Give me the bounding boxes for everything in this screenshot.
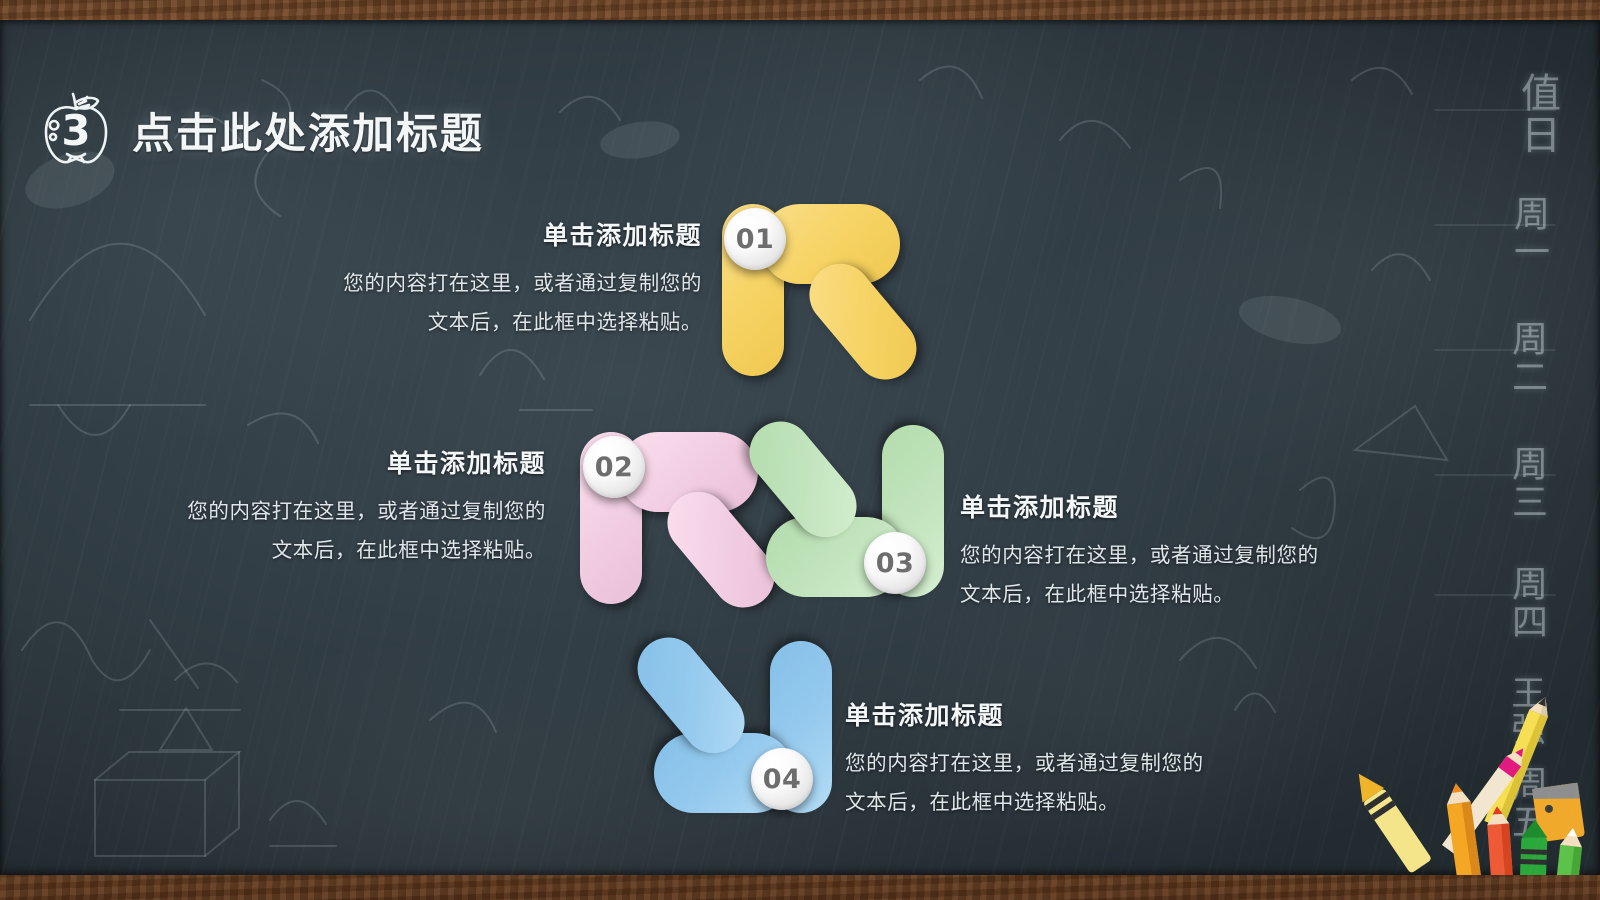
chalk-duty-name: 王强	[1501, 675, 1550, 747]
content-body-03-line2: 文本后，在此框中选择粘贴。	[960, 575, 1380, 614]
chalk-day-5: 周五	[1500, 765, 1552, 841]
chalk-duty-title: 值日	[1508, 72, 1566, 156]
content-body-02-line1: 您的内容打在这里，或者通过复制您的	[98, 492, 546, 531]
chalk-day-4: 周四	[1500, 565, 1552, 641]
pencil-red	[1486, 805, 1517, 875]
content-block-02[interactable]: 单击添加标题 您的内容打在这里，或者通过复制您的 文本后，在此框中选择粘贴。	[98, 444, 546, 571]
slide-title-row: 3 点击此处添加标题	[40, 92, 484, 168]
content-heading-04: 单击添加标题	[845, 696, 1265, 732]
content-body-04-line2: 文本后，在此框中选择粘贴。	[845, 783, 1265, 822]
content-block-04[interactable]: 单击添加标题 您的内容打在这里，或者通过复制您的 文本后，在此框中选择粘贴。	[845, 696, 1265, 823]
pencil-pink	[1442, 743, 1531, 856]
content-block-01[interactable]: 单击添加标题 您的内容打在这里，或者通过复制您的 文本后，在此框中选择粘贴。	[240, 216, 702, 343]
apple-number: 3	[61, 106, 90, 155]
content-body-03-line1: 您的内容打在这里，或者通过复制您的	[960, 536, 1380, 575]
page-title: 点击此处添加标题	[132, 100, 484, 161]
chalk-day-3: 周三	[1500, 445, 1552, 521]
pencils-decoration	[1340, 685, 1600, 875]
content-body-04-line1: 您的内容打在这里，或者通过复制您的	[845, 744, 1265, 783]
pencil-lightgreen	[1550, 827, 1584, 875]
content-heading-03: 单击添加标题	[960, 488, 1380, 524]
content-body-04: 您的内容打在这里，或者通过复制您的 文本后，在此框中选择粘贴。	[845, 744, 1265, 823]
slide-frame: 值日 周一 周二 周三 周四 王强 周五 3 点击此处添加标题	[0, 0, 1600, 900]
number-badge-01[interactable]: 01	[724, 208, 786, 270]
content-body-01: 您的内容打在这里，或者通过复制您的 文本后，在此框中选择粘贴。	[240, 264, 702, 343]
chalk-day-1: 周一	[1502, 195, 1554, 271]
content-body-01-line2: 文本后，在此框中选择粘贴。	[240, 303, 702, 342]
number-badge-02[interactable]: 02	[583, 436, 645, 498]
number-badge-03[interactable]: 03	[864, 532, 926, 594]
pencil-yellow	[1484, 693, 1554, 828]
content-body-02: 您的内容打在这里，或者通过复制您的 文本后，在此框中选择粘贴。	[98, 492, 546, 571]
chalkboard: 值日 周一 周二 周三 周四 王强 周五 3 点击此处添加标题	[0, 20, 1600, 875]
content-block-03[interactable]: 单击添加标题 您的内容打在这里，或者通过复制您的 文本后，在此框中选择粘贴。	[960, 488, 1380, 615]
content-body-01-line1: 您的内容打在这里，或者通过复制您的	[240, 264, 702, 303]
content-body-03: 您的内容打在这里，或者通过复制您的 文本后，在此框中选择粘贴。	[960, 536, 1380, 615]
number-badge-04[interactable]: 04	[751, 748, 813, 810]
chalk-day-2: 周二	[1500, 320, 1552, 396]
content-heading-02: 单击添加标题	[98, 444, 546, 480]
content-heading-01: 单击添加标题	[240, 216, 702, 252]
sharpener	[1532, 783, 1585, 843]
crayon-yellow	[1348, 766, 1432, 873]
crayon-green	[1518, 819, 1548, 875]
content-body-02-line2: 文本后，在此框中选择粘贴。	[98, 531, 546, 570]
apple-outline-icon: 3	[40, 92, 112, 168]
pencil-orange	[1444, 782, 1486, 875]
